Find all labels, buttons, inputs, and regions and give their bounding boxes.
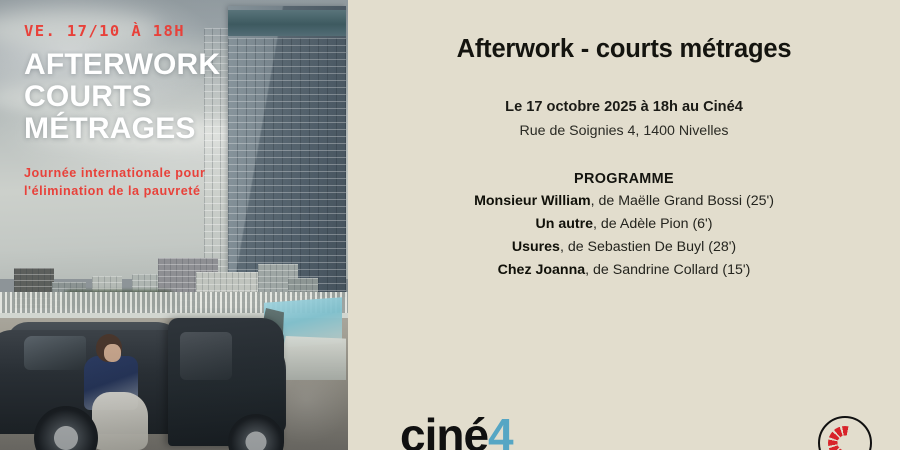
poster-title: AFTERWORK COURTS MÉTRAGES (24, 49, 324, 144)
film-credit: , de Sebastien De Buyl (560, 239, 704, 255)
tent-shelter (276, 336, 346, 380)
cine4-logo-number: 4 (488, 409, 513, 450)
film-title: Monsieur William (474, 193, 591, 209)
cine4-logo-word: ciné (400, 409, 488, 450)
film-duration: (25') (746, 193, 774, 209)
poster-title-line-2: COURTS (24, 80, 152, 113)
film-credit: , de Maëlle Grand Bossi (591, 193, 742, 209)
cine4-logo[interactable]: ciné4 (400, 406, 550, 450)
programme-heading: PROGRAMME (348, 171, 900, 187)
film-title: Usures (512, 239, 560, 255)
list-item: Monsieur William, de Maëlle Grand Bossi … (348, 190, 900, 213)
poster-text-overlay: VE. 17/10 À 18H AFTERWORK COURTS MÉTRAGE… (24, 22, 324, 201)
film-duration: (15') (722, 262, 750, 278)
car-window (24, 336, 86, 370)
footer-logo-row: ciné4 (348, 400, 900, 450)
film-duration: (6') (692, 216, 712, 232)
event-details-panel: Afterwork - courts métrages Le 17 octobr… (348, 0, 900, 450)
event-address: Rue de Soignies 4, 1400 Nivelles (348, 122, 900, 141)
poster-subtitle-line-2: l'élimination de la pauvreté (24, 184, 201, 198)
poster-title-line-3: MÉTRAGES (24, 112, 196, 145)
event-card: VE. 17/10 À 18H AFTERWORK COURTS MÉTRAGE… (0, 0, 900, 450)
poster-date-line: VE. 17/10 À 18H (24, 22, 324, 40)
carried-bundle (92, 392, 148, 450)
film-duration: (28') (708, 239, 736, 255)
poster-subtitle: Journée internationale pour l'éliminatio… (24, 165, 324, 201)
film-credit: , de Adèle Pion (593, 216, 688, 232)
film-credit: , de Sandrine Collard (585, 262, 718, 278)
page-title: Afterwork - courts métrages (348, 0, 900, 65)
event-poster-image[interactable]: VE. 17/10 À 18H AFTERWORK COURTS MÉTRAGE… (0, 0, 348, 450)
list-item: Chez Joanna, de Sandrine Collard (15') (348, 259, 900, 282)
person-face (104, 344, 121, 362)
list-item: Usures, de Sebastien De Buyl (28') (348, 236, 900, 259)
programme-list: Monsieur William, de Maëlle Grand Bossi … (348, 190, 900, 282)
film-title: Chez Joanna (498, 262, 586, 278)
event-datetime: Le 17 octobre 2025 à 18h au Ciné4 (348, 98, 900, 118)
poster-subtitle-line-1: Journée internationale pour (24, 166, 205, 180)
film-title: Un autre (535, 216, 593, 232)
partner-logo-center (838, 436, 853, 450)
list-item: Un autre, de Adèle Pion (6') (348, 213, 900, 236)
poster-title-line-1: AFTERWORK (24, 48, 220, 81)
partner-seal-icon[interactable] (818, 416, 872, 450)
